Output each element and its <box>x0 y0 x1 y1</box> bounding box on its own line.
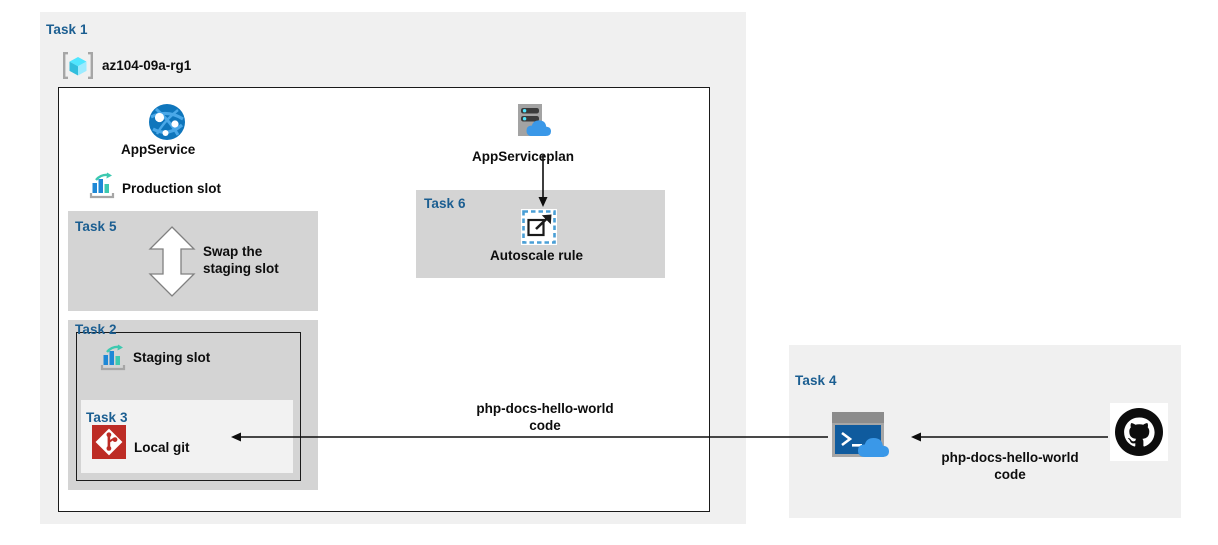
app-service-icon <box>148 103 186 141</box>
autoscale-icon <box>521 209 557 245</box>
middle-arrow-label: php-docs-hello-world code <box>462 401 628 435</box>
task3-label: Task 3 <box>86 410 128 425</box>
task4-arrow-label: php-docs-hello-world code <box>925 450 1095 484</box>
swap-staging-slot-label: Swap the staging slot <box>203 244 313 278</box>
deployment-slot-icon-staging <box>99 344 127 372</box>
app-service-label: AppService <box>121 142 195 159</box>
cloud-shell-icon <box>832 412 897 457</box>
task4-label: Task 4 <box>795 373 837 388</box>
task6-label: Task 6 <box>424 196 466 211</box>
task5-label: Task 5 <box>75 219 117 234</box>
swap-double-arrow-icon <box>146 225 198 298</box>
github-icon <box>1110 403 1168 461</box>
task2-label: Task 2 <box>75 322 117 337</box>
resource-group-name: az104-09a-rg1 <box>102 58 191 75</box>
autoscale-rule-label: Autoscale rule <box>490 248 583 265</box>
staging-slot-label: Staging slot <box>133 350 210 367</box>
task1-label: Task 1 <box>46 22 88 37</box>
production-slot-label: Production slot <box>122 181 221 198</box>
local-git-label: Local git <box>134 440 190 457</box>
diagram-canvas: Task 1 Task 5 Task 2 Task 3 Task 6 Task … <box>0 0 1218 545</box>
resource-group-icon <box>60 49 96 82</box>
app-service-plan-label: AppServiceplan <box>472 149 574 166</box>
app-service-plan-icon <box>512 100 554 142</box>
deployment-slot-icon-production <box>88 172 116 200</box>
git-icon <box>92 425 126 459</box>
